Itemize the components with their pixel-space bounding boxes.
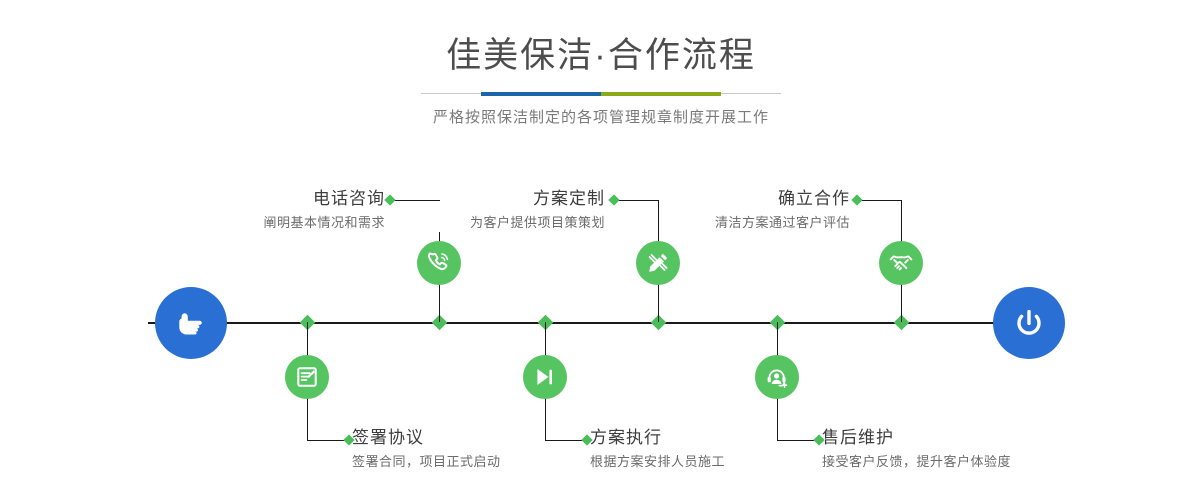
step-desc-3: 为客户提供项目策策划 [400,213,605,233]
step-desc-2: 签署合同，项目正式启动 [352,452,582,472]
headset-plus-icon [764,364,790,390]
step-icon-4[interactable] [523,355,567,399]
step-icon-6[interactable] [755,355,799,399]
step-icon-5[interactable] [879,241,923,285]
timeline-leader-dot-5 [851,194,862,205]
timeline-end-badge [993,287,1065,359]
step-title-2: 签署协议 [352,427,582,449]
timeline-leader-dot-3 [608,194,619,205]
flowchart-page: 佳美保洁·合作流程 严格按照保洁制定的各项管理规章制度开展工作 [0,0,1202,502]
step-icon-1[interactable] [417,241,461,285]
pointing-hand-icon [171,303,211,343]
timeline-leader-dot-1 [384,194,395,205]
timeline-axis [148,322,1054,324]
step-desc-4: 根据方案安排人员施工 [590,452,820,472]
step-icon-3[interactable] [636,241,680,285]
step-label-2: 签署协议 签署合同，项目正式启动 [352,427,582,472]
step-desc-5: 清洁方案通过客户评估 [645,213,850,233]
step-title-4: 方案执行 [590,427,820,449]
step-label-5: 确立合作 清洁方案通过客户评估 [645,188,850,233]
step-label-6: 售后维护 接受客户反馈，提升客户体验度 [822,427,1082,472]
process-timeline: 电话咨询 阐明基本情况和需求 签署协议 签署合同，项目正式启动 [0,0,1202,502]
power-icon [1009,303,1049,343]
step-label-1: 电话咨询 阐明基本情况和需求 [180,188,385,233]
step-title-3: 方案定制 [400,188,605,210]
step-title-1: 电话咨询 [180,188,385,210]
timeline-leader-5 [857,200,902,201]
phone-ring-icon [426,250,452,276]
timeline-start-badge [155,287,227,359]
step-title-6: 售后维护 [822,427,1082,449]
step-label-4: 方案执行 根据方案安排人员施工 [590,427,820,472]
handshake-icon [888,250,914,276]
pencil-ruler-icon [645,250,671,276]
step-title-5: 确立合作 [645,188,850,210]
step-label-3: 方案定制 为客户提供项目策策划 [400,188,605,233]
document-pen-icon [294,364,320,390]
step-desc-1: 阐明基本情况和需求 [180,213,385,233]
play-execute-icon [532,364,558,390]
step-desc-6: 接受客户反馈，提升客户体验度 [822,452,1082,472]
step-icon-2[interactable] [285,355,329,399]
